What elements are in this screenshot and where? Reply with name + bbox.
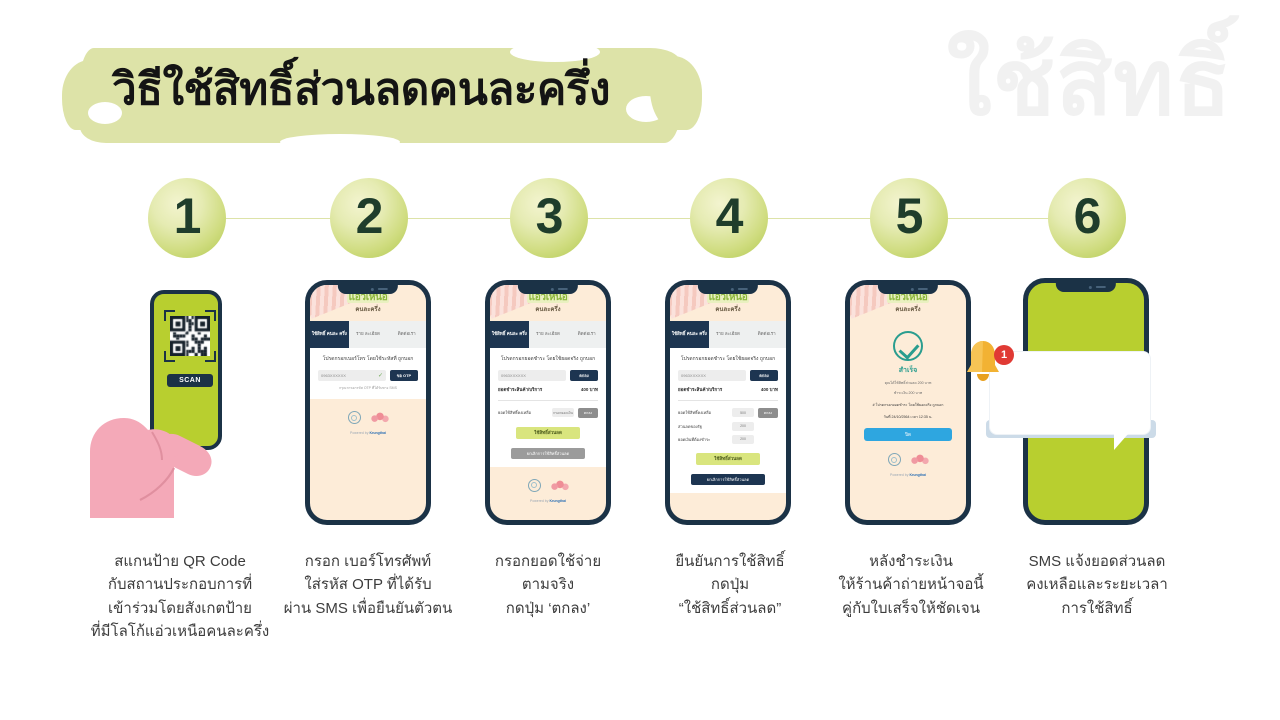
caption-1-line-2: กับสถานประกอบการที่ (80, 573, 280, 596)
footer-seals (490, 479, 606, 492)
seal-icon (888, 453, 901, 466)
caption-1-line-4: ที่มีโลโก้แอ่วเหนือคนละครึ่ง (80, 620, 280, 643)
sms-notification-card[interactable] (990, 352, 1150, 434)
footer-seals (310, 411, 426, 424)
amount-card-title: โปรดกรอกยอดชำระ โดยใช้ยอดจริง ถูกบอก (498, 355, 598, 364)
step-number-6: 6 (1048, 178, 1126, 258)
use-discount-button[interactable]: ใช้สิทธิ์ส่วนลด (696, 453, 760, 465)
caption-3-line-3: กดปุ่ม ‘ตกลง’ (466, 597, 630, 620)
phone-notch (338, 285, 398, 294)
usage-confirm-button[interactable]: ตกลง (578, 408, 598, 418)
phone-mockup-step-2: แอ่วเหนือ คนละครึ่ง ใช้สิทธิ์ คนละ ครึ่ง… (305, 280, 431, 525)
footer-seals (858, 453, 958, 466)
usage-input[interactable]: กรอกยอดเงิน (552, 408, 574, 417)
phone-number-input[interactable]: 0963XXXXXX ✓ (318, 370, 386, 381)
step-6-number: 6 (1074, 191, 1101, 241)
step-4-number: 4 (716, 191, 743, 241)
tab-details[interactable]: ราย ละเอียด (709, 321, 748, 348)
success-detail-2: ชำระเงิน 200 บาท (858, 390, 958, 396)
caption-4-line-2: กดปุ่ม (646, 573, 814, 596)
tab-contact[interactable]: ติดต่อเรา (747, 321, 786, 348)
step-number-4: 4 (690, 178, 768, 258)
phone-mockup-step-4: แอ่วเหนือ คนละครึ่ง ใช้สิทธิ์ คนละ ครึ่ง… (665, 280, 791, 525)
powered-by-label: Powered by (530, 499, 548, 503)
amount-value: 400 บาท (761, 386, 778, 393)
tab-contact[interactable]: ติดต่อเรา (567, 321, 606, 348)
caption-5-line-2: ให้ร้านค้าถ่ายหน้าจอนี้ (818, 573, 1004, 596)
use-discount-button[interactable]: ใช้สิทธิ์ส่วนลด (516, 427, 580, 439)
powered-by-label: Powered by (890, 473, 908, 477)
caption-step-2: กรอก เบอร์โทรศัพท์ ใส่รหัส OTP ที่ได้รับ… (270, 550, 466, 620)
caption-step-3: กรอกยอดใช้จ่าย ตามจริง กดปุ่ม ‘ตกลง’ (466, 550, 630, 620)
caption-step-1: สแกนป้าย QR Code กับสถานประกอบการที่ เข้… (80, 550, 280, 643)
success-title: สำเร็จ (858, 365, 958, 376)
confirm-card-title: โปรดกรอกยอดชำระ โดยใช้ยอดจริง ถูกบอก (678, 355, 778, 364)
tab-details[interactable]: ราย ละเอียด (349, 321, 388, 348)
tab-details[interactable]: ราย ละเอียด (529, 321, 568, 348)
partner-logo-icon (551, 480, 569, 491)
tab-use-privilege[interactable]: ใช้สิทธิ์ คนละ ครึ่ง (670, 321, 709, 348)
caption-5-line-3: คู่กับใบเสร็จให้ชัดเจน (818, 597, 1004, 620)
usage-label: ยอดใช้สิทธิ์คงเหลือ (498, 409, 548, 416)
powered-by-text: Powered by Krungthai (858, 473, 958, 477)
powered-by-text: Powered by Krungthai (490, 499, 606, 503)
step-5-number: 5 (896, 191, 923, 241)
phone-notch (518, 285, 578, 294)
phone-number-input[interactable]: 0963XXXXXX (678, 370, 746, 381)
success-panel: สำเร็จ คุณได้ใช้สิทธิ์ส่วนลด 200 บาท ชำร… (850, 321, 966, 477)
confirm-card: โปรดกรอกยอดชำระ โดยใช้ยอดจริง ถูกบอก 096… (670, 348, 786, 493)
confirm-button[interactable]: ตกลง (570, 370, 598, 381)
powered-by-label: Powered by (350, 431, 368, 435)
otp-hint-text: กรุณากรอกรหัส OTP ที่ได้รับทาง SMS (318, 386, 418, 392)
success-detail-1: คุณได้ใช้สิทธิ์ส่วนลด 200 บาท (858, 380, 958, 386)
amount-label: ยอดชำระสินค้า/บริการ (678, 386, 722, 393)
phone-number-value: 0963XXXXXX (321, 373, 346, 378)
qr-frame (164, 310, 216, 362)
step-1-number: 1 (174, 191, 201, 241)
caption-6-line-3: การใช้สิทธิ์ (1002, 597, 1192, 620)
amount-label: ยอดชำระสินค้า/บริการ (498, 386, 542, 393)
caption-step-6: SMS แจ้งยอดส่วนลด คงเหลือและระยะเวลา การ… (1002, 550, 1192, 620)
step-connector-line (186, 218, 1086, 219)
app-logo-sub: คนละครึ่ง (850, 304, 966, 314)
success-note-1: # โปรดกรอกยอดชำระ โดยใช้ยอดจริง ถูกบอก (858, 402, 958, 408)
brand-name: Krungthai (369, 431, 386, 435)
otp-card: โปรดกรอกเบอร์โทร โดยใช้ระหัสที่ ถูกบอก 0… (310, 348, 426, 399)
caption-3-line-2: ตามจริง (466, 573, 630, 596)
phone-number-input[interactable]: 0963XXXXXX (498, 370, 566, 381)
phone-notch (698, 285, 758, 294)
caption-3-line-1: กรอกยอดใช้จ่าย (466, 550, 630, 573)
caption-1-line-1: สแกนป้าย QR Code (80, 550, 280, 573)
caption-step-4: ยืนยันการใช้สิทธิ์ กดปุ่ม “ใช้สิทธิ์ส่วน… (646, 550, 814, 620)
cancel-discount-button[interactable]: ยกเลิกการใช้สิทธิ์ส่วนลด (511, 448, 585, 459)
app-logo-sub: คนละครึ่ง (490, 304, 606, 314)
partner-logo-icon (911, 454, 929, 465)
amount-value: 400 บาท (581, 386, 598, 393)
caption-4-line-1: ยืนยันการใช้สิทธิ์ (646, 550, 814, 573)
app-tabbar[interactable]: ใช้สิทธิ์ คนละ ครึ่ง ราย ละเอียด ติดต่อเ… (670, 321, 786, 348)
step-number-3: 3 (510, 178, 588, 258)
phone-number-value: 0963XXXXXX (501, 373, 526, 378)
breakdown-value-3: 200 (732, 435, 754, 444)
hand-illustration (78, 368, 228, 518)
caption-2-line-3: ผ่าน SMS เพื่อยืนยันตัวตน (270, 597, 466, 620)
partner-logo-icon (371, 412, 389, 423)
caption-5-line-1: หลังชำระเงิน (818, 550, 1004, 573)
step-number-2: 2 (330, 178, 408, 258)
caption-2-line-2: ใส่รหัส OTP ที่ได้รับ (270, 573, 466, 596)
brand-name: Krungthai (909, 473, 926, 477)
app-logo-sub: คนละครึ่ง (310, 304, 426, 314)
app-tabbar[interactable]: ใช้สิทธิ์ คนละ ครึ่ง ราย ละเอียด ติดต่อเ… (490, 321, 606, 348)
breakdown-value-2: 200 (732, 422, 754, 431)
breakdown-label-3: ยอดเงินที่ต้องชำระ (678, 436, 728, 443)
step-2-number: 2 (356, 191, 383, 241)
success-check-icon (893, 331, 923, 361)
watermark-text: ใช้สิทธิ์ (947, 26, 1232, 141)
caption-6-line-1: SMS แจ้งยอดส่วนลด (1002, 550, 1192, 573)
breakdown-value-1: 500 (732, 408, 754, 417)
cancel-discount-button[interactable]: ยกเลิกการใช้สิทธิ์ส่วนลด (691, 474, 765, 485)
caption-4-line-3: “ใช้สิทธิ์ส่วนลด” (646, 597, 814, 620)
app-tabbar[interactable]: ใช้สิทธิ์ คนละ ครึ่ง ราย ละเอียด ติดต่อเ… (310, 321, 426, 348)
breakdown-label-2: ส่วนลดของรัฐ (678, 423, 728, 430)
phone-notch (1056, 283, 1116, 292)
tab-use-privilege[interactable]: ใช้สิทธิ์ คนละ ครึ่ง (490, 321, 529, 348)
infographic-canvas: ใช้สิทธิ์ วิธีใช้สิทธิ์ส่วนลดคนละครึ่ง 1… (0, 0, 1280, 720)
powered-by-text: Powered by Krungthai (310, 431, 426, 435)
close-button[interactable]: ปิด (864, 428, 952, 441)
page-title: วิธีใช้สิทธิ์ส่วนลดคนละครึ่ง (112, 57, 610, 123)
app-logo-sub: คนละครึ่ง (670, 304, 786, 314)
caption-1-line-3: เข้าร่วมโดยสังเกตป้าย (80, 597, 280, 620)
caption-2-line-1: กรอก เบอร์โทรศัพท์ (270, 550, 466, 573)
phone-mockup-step-3: แอ่วเหนือ คนละครึ่ง ใช้สิทธิ์ คนละ ครึ่ง… (485, 280, 611, 525)
step-number-1: 1 (148, 178, 226, 258)
check-icon: ✓ (378, 372, 383, 379)
seal-icon (348, 411, 361, 424)
qr-code-icon (170, 316, 210, 356)
divider (498, 400, 598, 401)
success-note-2: วันที่ 24/10/2564 เวลา 12:35 น. (858, 414, 958, 420)
phone-mockup-step-5: แอ่วเหนือ คนละครึ่ง สำเร็จ คุณได้ใช้สิทธ… (845, 280, 971, 525)
confirm-button[interactable]: ตกลง (750, 370, 778, 381)
notification-badge: 1 (994, 345, 1014, 365)
step-number-5: 5 (870, 178, 948, 258)
otp-card-title: โปรดกรอกเบอร์โทร โดยใช้ระหัสที่ ถูกบอก (318, 355, 418, 364)
request-otp-button[interactable]: ขอ OTP (390, 370, 418, 381)
phone-number-value: 0963XXXXXX (681, 373, 706, 378)
seal-icon (528, 479, 541, 492)
tab-contact[interactable]: ติดต่อเรา (387, 321, 426, 348)
breakdown-label-1: ยอดใช้สิทธิ์คงเหลือ (678, 409, 728, 416)
tab-use-privilege[interactable]: ใช้สิทธิ์ คนละ ครึ่ง (310, 321, 349, 348)
caption-step-5: หลังชำระเงิน ให้ร้านค้าถ่ายหน้าจอนี้ คู่… (818, 550, 1004, 620)
breakdown-confirm-button[interactable]: ตกลง (758, 408, 778, 418)
amount-card: โปรดกรอกยอดชำระ โดยใช้ยอดจริง ถูกบอก 096… (490, 348, 606, 467)
caption-6-line-2: คงเหลือและระยะเวลา (1002, 573, 1192, 596)
step-3-number: 3 (536, 191, 563, 241)
brand-name: Krungthai (549, 499, 566, 503)
phone-notch (878, 285, 938, 294)
divider (678, 400, 778, 401)
